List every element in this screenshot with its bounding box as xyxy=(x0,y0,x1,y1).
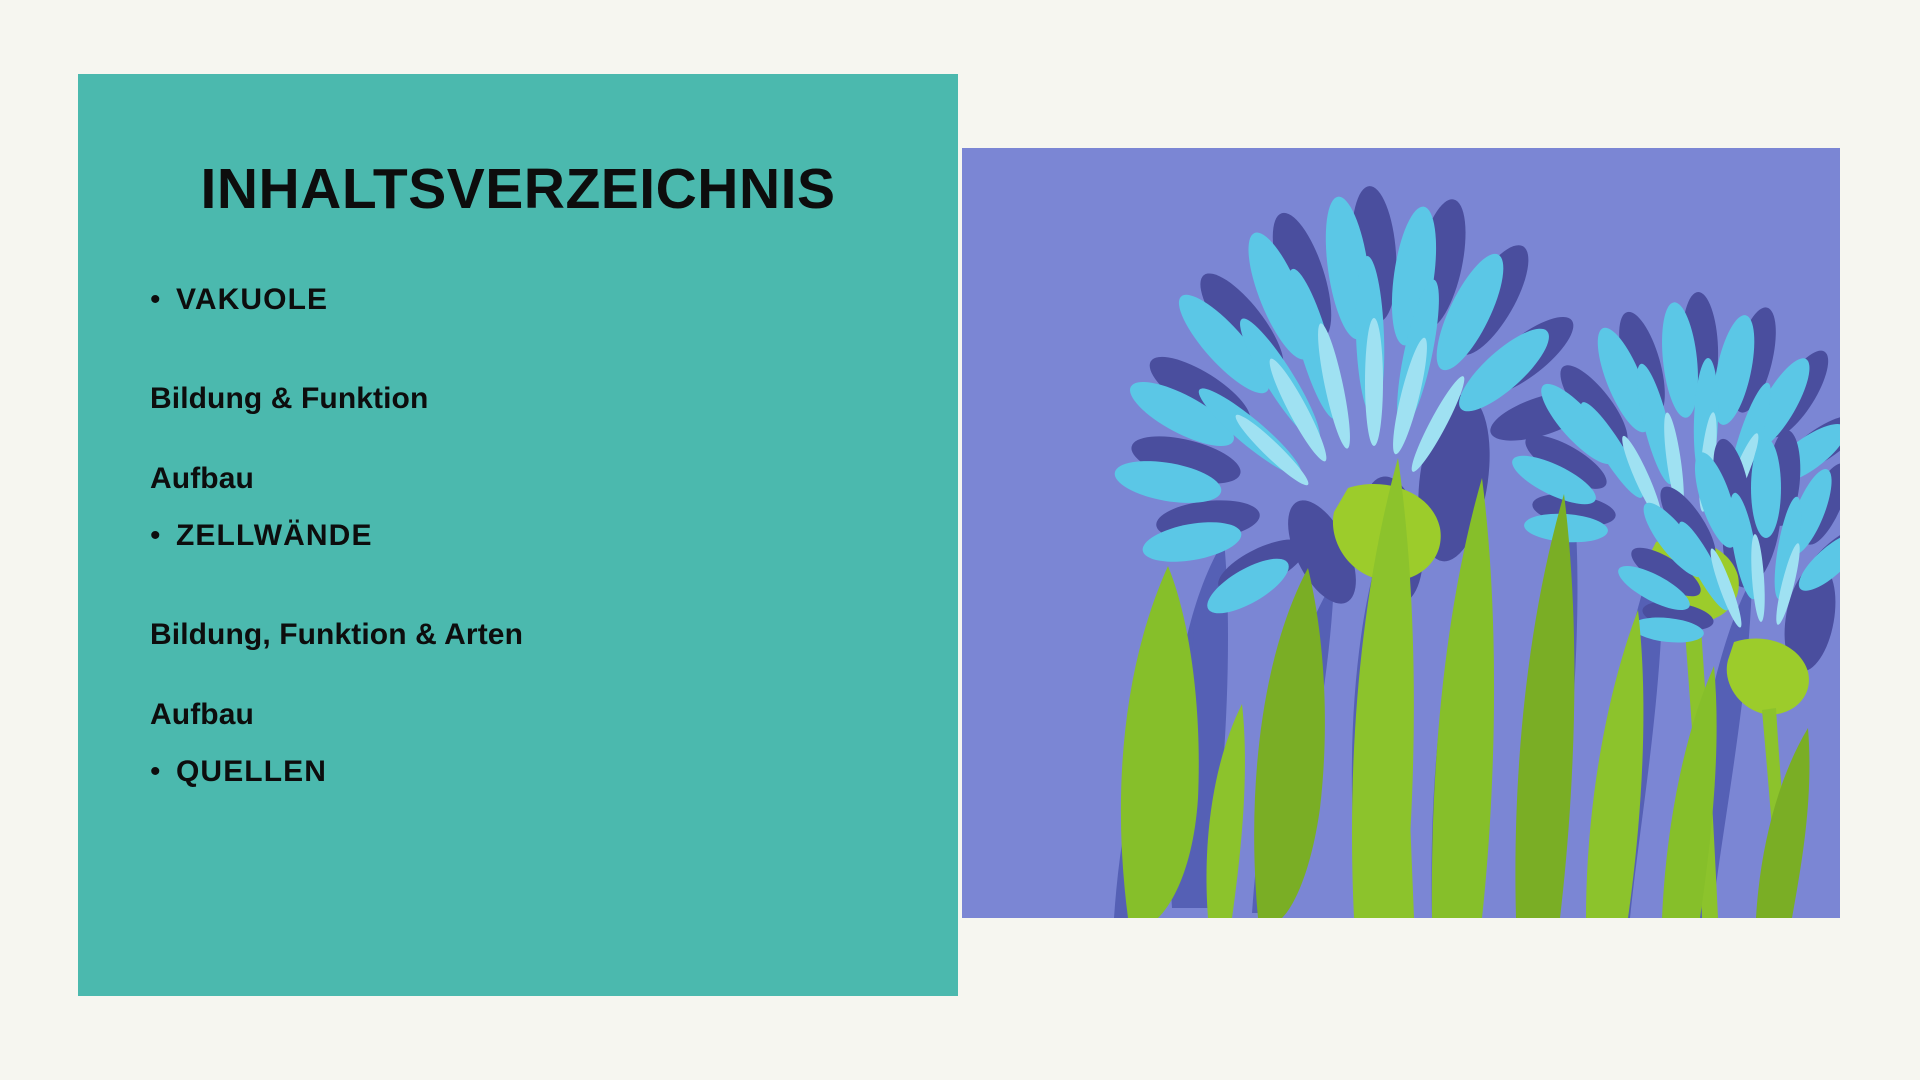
slide-canvas: INHALTSVERZEICHNIS • VAKUOLE Bildung & F… xyxy=(0,0,1920,1080)
toc-subitem-aufbau-2[interactable]: Aufbau xyxy=(150,675,886,755)
toc-item-vakuole[interactable]: • VAKUOLE xyxy=(150,283,886,359)
toc-subitem-bildung-funktion[interactable]: Bildung & Funktion xyxy=(150,359,886,439)
bullet-icon: • xyxy=(150,521,176,551)
bullet-icon: • xyxy=(150,757,176,787)
illustration-panel xyxy=(962,148,1840,918)
toc-item-label: QUELLEN xyxy=(176,755,327,789)
toc-list: • VAKUOLE Bildung & Funktion Aufbau • ZE… xyxy=(150,283,886,831)
toc-entry-vakuole: • VAKUOLE Bildung & Funktion Aufbau xyxy=(150,283,886,519)
flower-illustration-svg xyxy=(962,148,1840,918)
bullet-icon: • xyxy=(150,285,176,315)
toc-item-zellwaende[interactable]: • ZELLWÄNDE xyxy=(150,519,886,595)
toc-item-quellen[interactable]: • QUELLEN xyxy=(150,755,886,831)
page-title: INHALTSVERZEICHNIS xyxy=(150,114,886,221)
toc-entry-zellwaende: • ZELLWÄNDE Bildung, Funktion & Arten Au… xyxy=(150,519,886,755)
toc-item-label: ZELLWÄNDE xyxy=(176,519,373,553)
toc-entry-quellen: • QUELLEN xyxy=(150,755,886,831)
toc-item-label: VAKUOLE xyxy=(176,283,328,317)
toc-subitem-aufbau-1[interactable]: Aufbau xyxy=(150,439,886,519)
toc-subitem-bildung-funktion-arten[interactable]: Bildung, Funktion & Arten xyxy=(150,595,886,675)
table-of-contents-card: INHALTSVERZEICHNIS • VAKUOLE Bildung & F… xyxy=(78,74,958,996)
